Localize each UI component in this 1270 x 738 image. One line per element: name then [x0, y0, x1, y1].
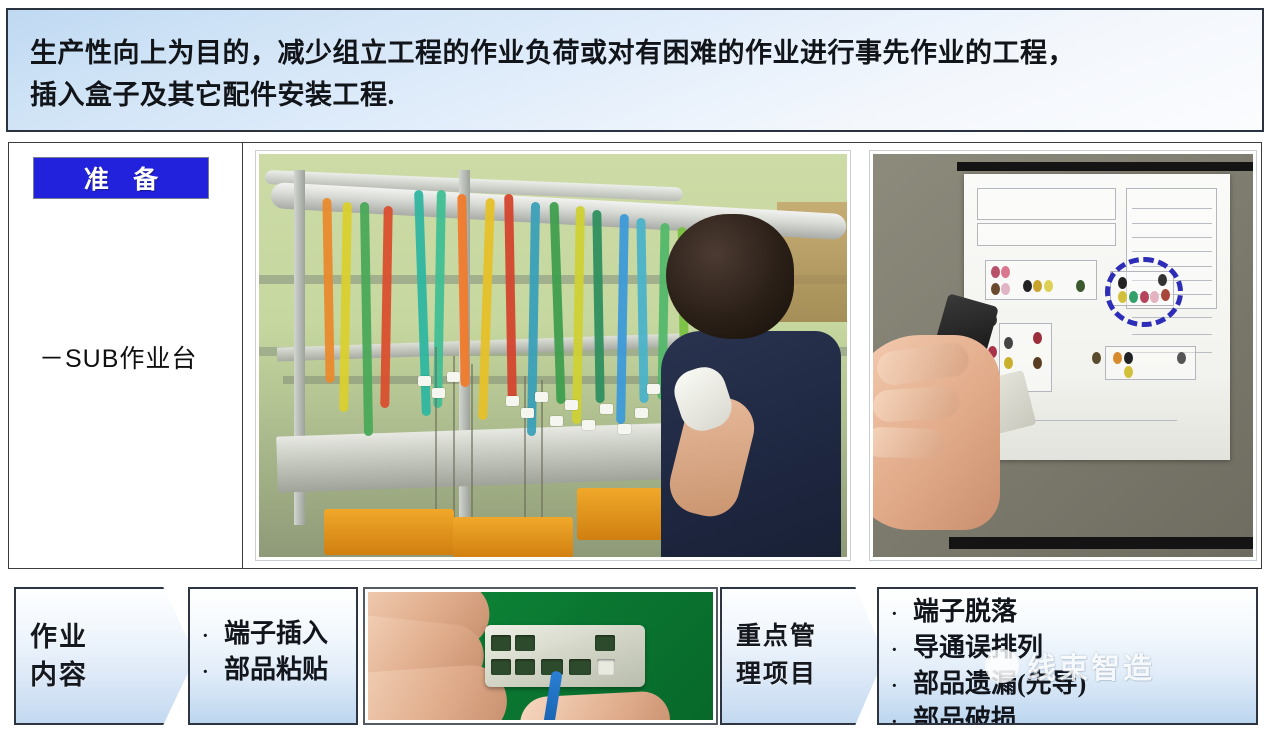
header-banner: 生产性向上为目的，减少组立工程的作业负荷或对有困难的作业进行事先作业的工程， 插… — [6, 8, 1264, 132]
key-control-line-2: 理项目 — [736, 656, 817, 694]
work-item: · 端子插入 — [202, 617, 356, 653]
connector-cavity — [569, 659, 591, 675]
work-item-label: 端子插入 — [224, 617, 328, 650]
sheet-rule — [1132, 251, 1212, 252]
terminal-connector — [550, 416, 563, 426]
connector-cavity — [491, 635, 511, 651]
connector-pin — [1033, 332, 1042, 344]
control-item: · 端子脱落 — [891, 595, 1256, 631]
connector-cavity — [515, 659, 535, 675]
sub-workbench-label: －SUB作业台 — [39, 339, 197, 375]
work-content-chevron[interactable]: 作业 内容 — [14, 587, 196, 725]
sheet-rule — [1132, 223, 1212, 224]
connector-cavity — [595, 635, 615, 651]
connector-cavity — [491, 659, 511, 675]
bottom-process-row: 作业 内容 · 端子插入 · 部品粘贴 — [8, 583, 1262, 729]
sheet-rule — [1132, 237, 1212, 238]
work-item: · 部品粘贴 — [202, 653, 356, 689]
connector-pin — [1124, 352, 1133, 364]
finger — [873, 385, 960, 423]
board-top-frame — [957, 162, 1253, 171]
terminal-connector — [418, 376, 431, 386]
key-control-items-box: · 端子脱落 · 导通误排列 · 部品遗漏(先导) · 部品破损 — [877, 587, 1258, 725]
parts-bin-mid — [453, 517, 573, 557]
prep-stage-badge: 准 备 — [33, 157, 209, 199]
connector-pin — [991, 283, 1000, 295]
control-item-label: 部品遗漏(先导) — [913, 667, 1086, 700]
connector-housing — [485, 625, 645, 687]
bullet-dot-icon: · — [891, 634, 913, 667]
worker-head — [666, 214, 794, 339]
header-text-line-2: 插入盒子及其它配件安装工程. — [30, 74, 1246, 116]
bullet-dot-icon: · — [891, 598, 913, 631]
sheet-rule — [1132, 334, 1212, 335]
bullet-dot-icon: · — [202, 656, 224, 689]
photo-instruction-sheet-inner — [873, 154, 1253, 557]
main-content-frame: 准 备 －SUB作业台 — [8, 142, 1262, 569]
work-content-chevron-text: 作业 内容 — [30, 618, 88, 694]
key-control-chevron-text: 重点管 理项目 — [736, 618, 817, 694]
connector-pin — [1177, 352, 1186, 364]
terminal-connector — [521, 408, 534, 418]
control-item: · 部品遗漏(先导) — [891, 667, 1256, 703]
key-control-line-1: 重点管 — [736, 618, 817, 656]
connector-pin — [1044, 280, 1053, 292]
connector-pin — [1124, 366, 1133, 378]
board-bottom-frame — [949, 537, 1253, 549]
bullet-dot-icon: · — [891, 706, 913, 725]
terminal-connector — [635, 408, 648, 418]
connector-pin — [1023, 280, 1032, 292]
parts-bin-left — [324, 509, 454, 555]
photo-terminal-insertion — [363, 587, 718, 725]
connector-pin — [1092, 352, 1101, 364]
sheet-title-box — [977, 188, 1115, 219]
wire-strand-1 — [435, 347, 437, 508]
terminal-connector — [565, 400, 578, 410]
connector-pin — [1076, 280, 1085, 292]
bullet-dot-icon: · — [891, 670, 913, 703]
control-item: · 导通误排列 — [891, 631, 1256, 667]
work-item-label: 部品粘贴 — [224, 653, 328, 686]
sheet-rule — [1132, 208, 1212, 209]
photo-zone — [243, 143, 1267, 568]
photo-terminal-insertion-inner — [368, 592, 713, 720]
terminal-connector — [618, 424, 631, 434]
header-text-line-1: 生产性向上为目的，减少组立工程的作业负荷或对有困难的作业进行事先作业的工程， — [30, 32, 1246, 74]
key-control-chevron[interactable]: 重点管 理项目 — [720, 587, 885, 725]
photo-sub-workbench-inner — [259, 154, 847, 557]
work-content-line-1: 作业 — [30, 618, 88, 656]
control-item-label: 导通误排列 — [913, 631, 1043, 664]
left-label-panel: 准 备 －SUB作业台 — [9, 143, 243, 568]
terminal-connector — [447, 372, 460, 382]
terminal-connector — [432, 388, 445, 398]
terminal-connector — [600, 404, 613, 414]
bullet-dot-icon: · — [202, 620, 224, 653]
connector-cavity — [515, 635, 535, 651]
control-item-label: 部品破损 — [913, 703, 1017, 725]
control-item: · 部品破损 — [891, 703, 1256, 725]
highlight-circle-icon — [1105, 257, 1183, 327]
work-content-items-box: · 端子插入 · 部品粘贴 — [188, 587, 358, 725]
wire-strand-3 — [471, 364, 473, 525]
terminal-connector — [647, 384, 660, 394]
photo-instruction-sheet — [869, 150, 1257, 561]
connector-cavity-target — [597, 659, 615, 675]
photo-sub-workbench — [255, 150, 851, 561]
work-content-line-2: 内容 — [30, 656, 88, 694]
control-item-label: 端子脱落 — [913, 595, 1017, 628]
terminal-connector — [535, 392, 548, 402]
connector-pin — [1113, 352, 1122, 364]
connector-pin — [991, 266, 1000, 278]
sheet-subtitle-box — [977, 223, 1115, 246]
terminal-connector — [582, 420, 595, 430]
wire-strand-4 — [524, 376, 526, 529]
finger — [873, 427, 946, 460]
terminal-connector — [506, 396, 519, 406]
